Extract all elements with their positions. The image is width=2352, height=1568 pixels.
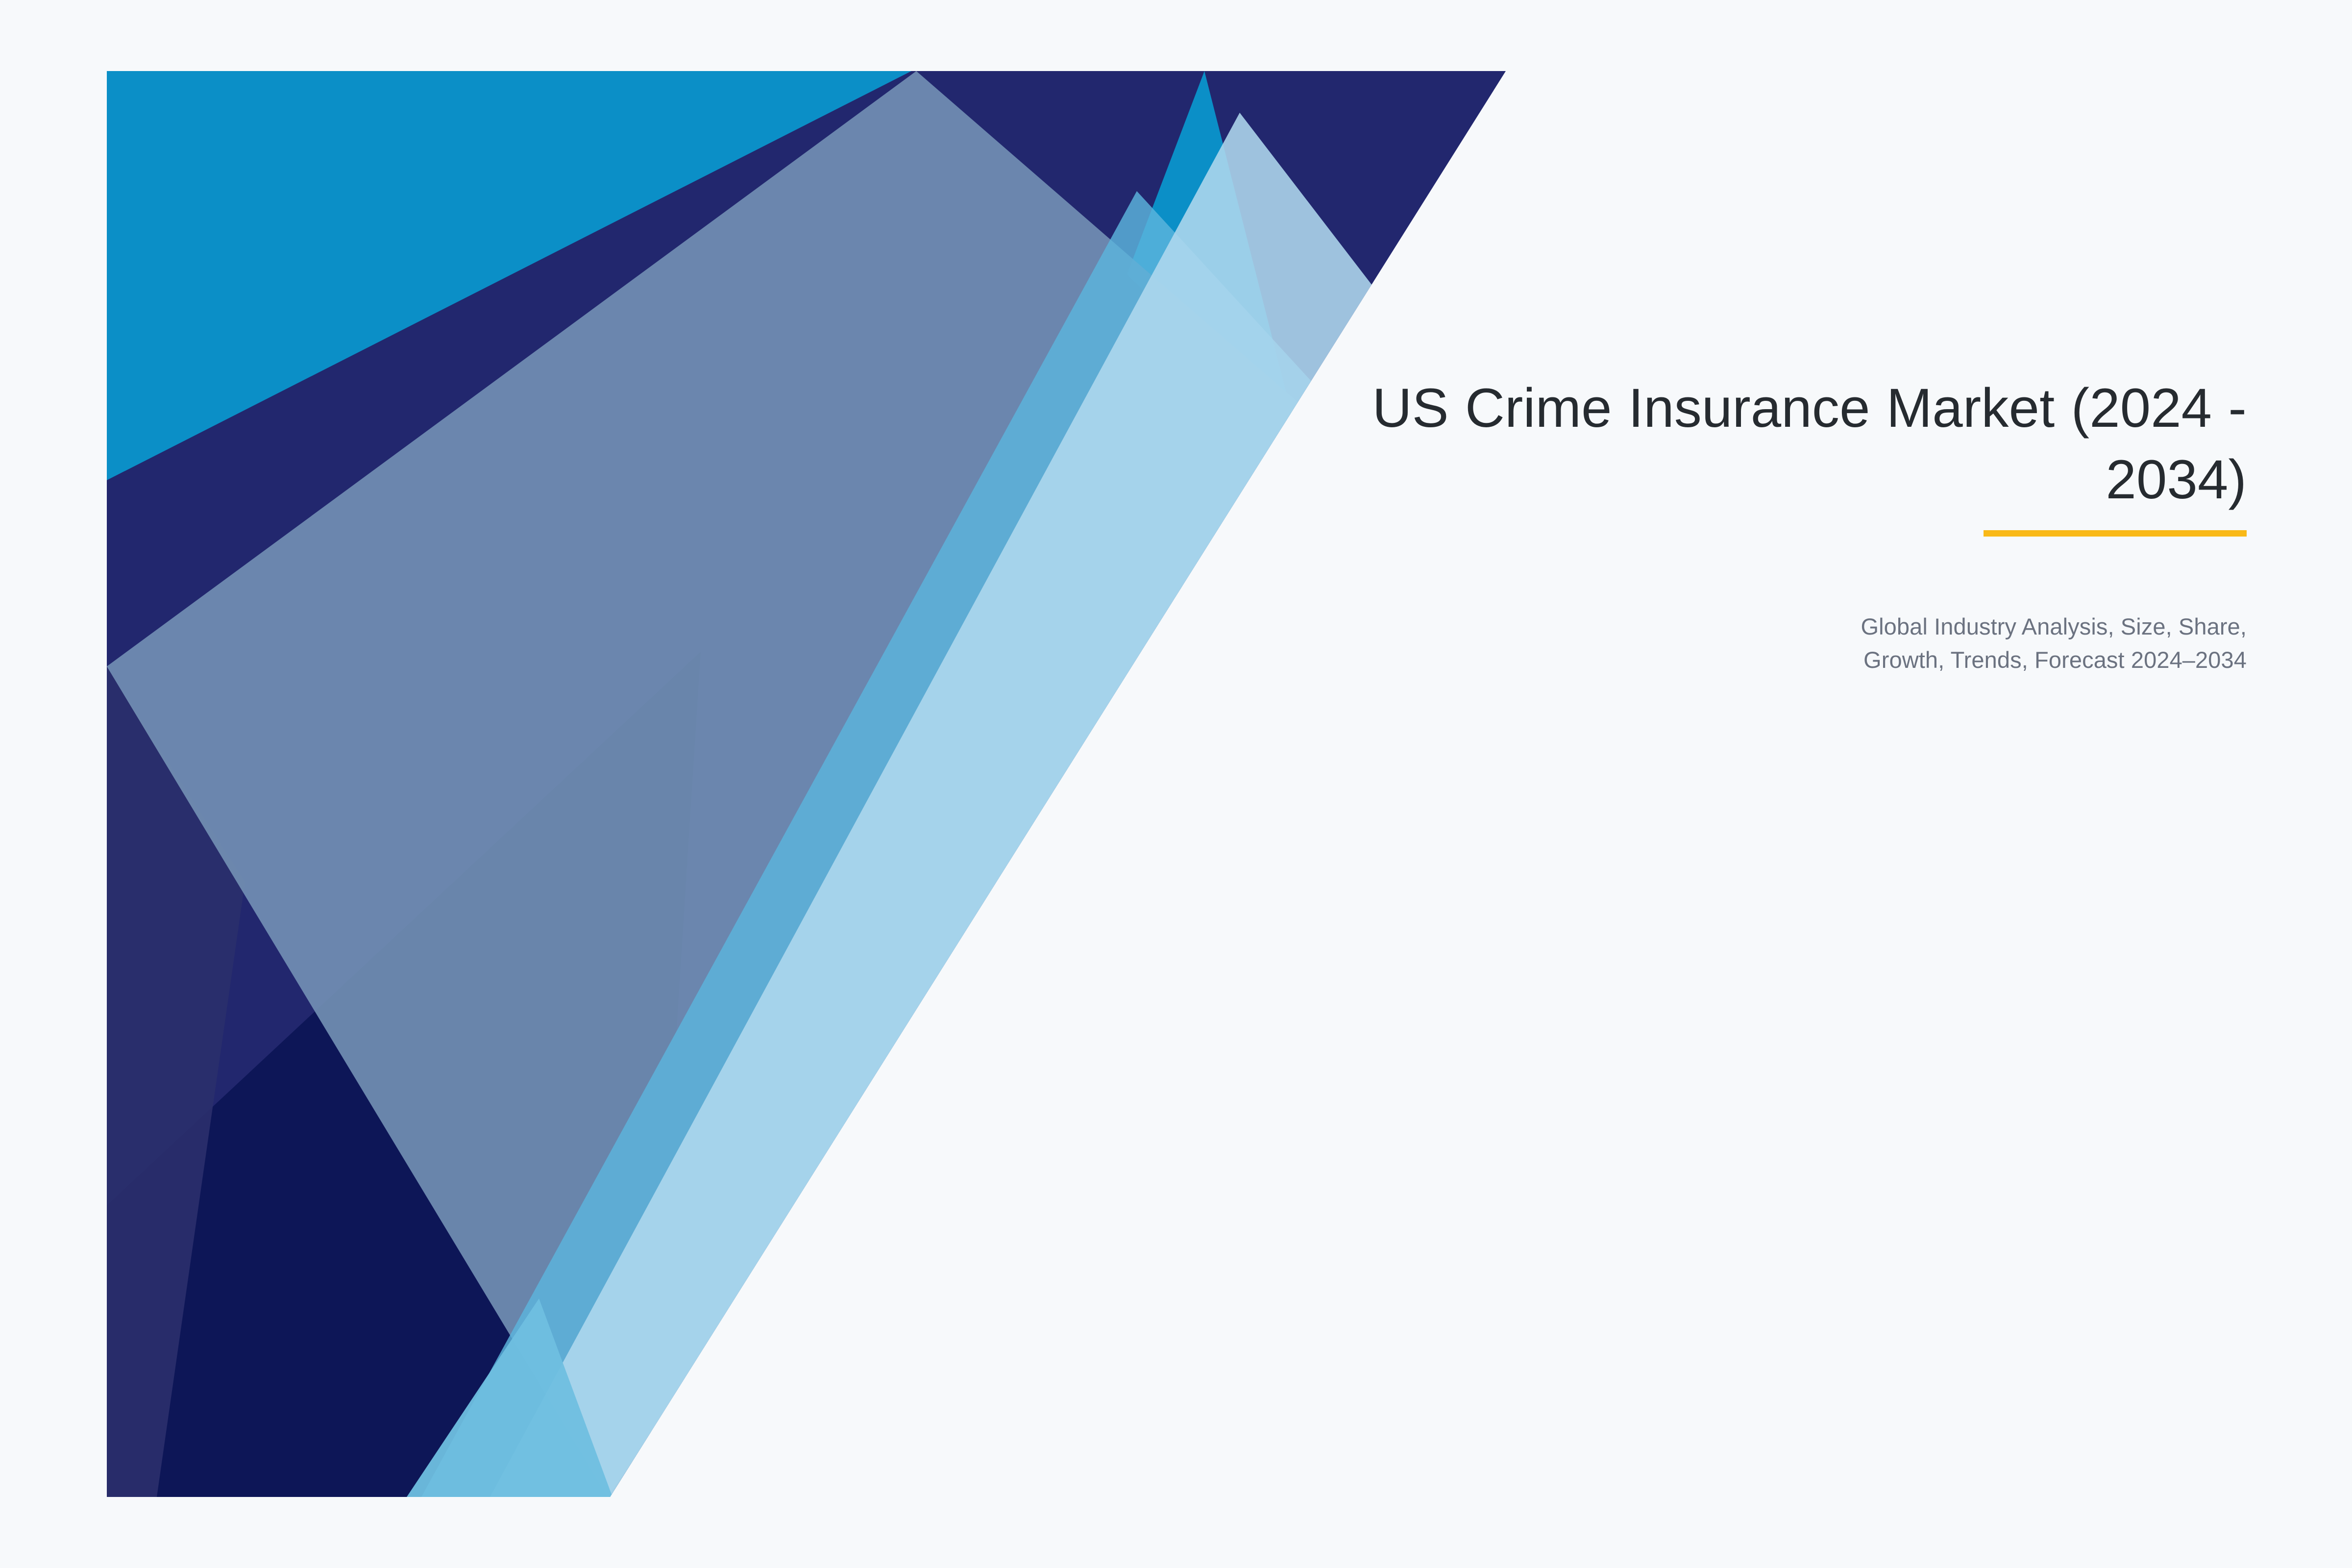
page-title: US Crime Insurance Market (2024 - 2034) [924,372,2247,515]
page-title-line-2: 2034) [2106,449,2247,510]
page-subtitle: Global Industry Analysis, Size, Share, G… [924,515,2247,676]
shape-deep-navy-wedge [107,652,701,1497]
shape-indigo-band [107,666,245,1497]
shape-cyan-base [107,71,1210,1497]
title-slide: US Crime Insurance Market (2024 - 2034) … [0,0,2352,1568]
page-subtitle-line-2: Growth, Trends, Forecast 2024–2034 [1863,647,2247,673]
shape-pale-blue-band [490,113,1401,1497]
abstract-polygon-graphic [0,0,2352,1568]
page-subtitle-line-1: Global Industry Analysis, Size, Share, [1861,613,2247,639]
shape-white-wash [617,71,1506,1497]
page-title-line-1: US Crime Insurance Market (2024 - [1372,377,2247,439]
artwork-canvas [0,0,2352,1568]
shape-navy-top [107,71,1506,1497]
shape-slate-overlay [107,71,1343,1497]
shape-sky-accent-bottom [407,1298,612,1497]
title-text-block: US Crime Insurance Market (2024 - 2034) … [924,372,2247,677]
